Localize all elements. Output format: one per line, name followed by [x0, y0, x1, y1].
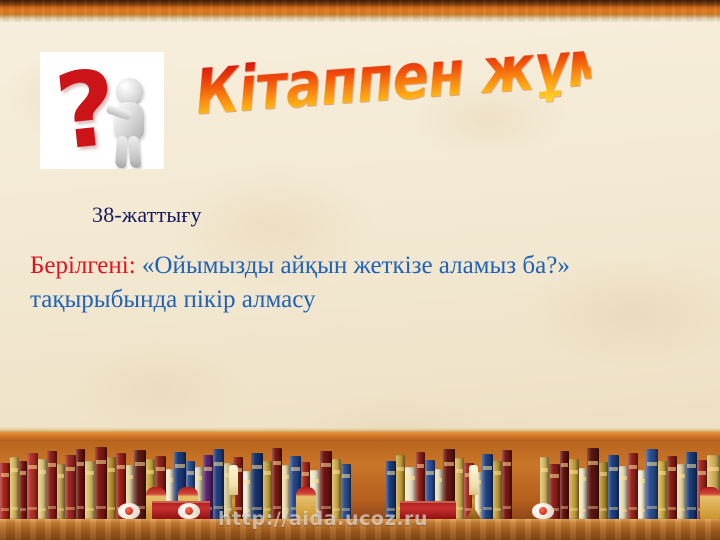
flower-ornament [118, 503, 140, 519]
book-spine [95, 447, 107, 519]
book-spine [569, 459, 579, 519]
book-spine [667, 456, 677, 519]
book-spine [686, 452, 697, 519]
task-lead-label: Берілгені: [30, 252, 136, 279]
book-spine [677, 464, 686, 519]
book-spine [19, 461, 27, 519]
book-spine [493, 461, 502, 519]
figure-head [116, 78, 143, 105]
book-spine [27, 453, 38, 519]
tassel-ornament [700, 487, 720, 519]
figure-left-leg [115, 136, 128, 169]
wood-grain-texture [0, 0, 720, 22]
wooden-top-border [0, 0, 720, 22]
flower-center [125, 507, 133, 515]
task-text: Берілгені: «Ойымызды айқын жеткізе аламы… [30, 249, 690, 317]
candle-icon [229, 465, 238, 495]
book-spine [638, 470, 646, 519]
book-spine [628, 453, 638, 519]
book-spine [65, 455, 76, 519]
figure-right-leg [128, 136, 142, 169]
book-spine [599, 462, 608, 519]
flower-ornament [532, 503, 554, 519]
book-spine [482, 454, 493, 519]
book-spine [579, 468, 587, 519]
book-spine [646, 449, 658, 519]
book-spine [38, 459, 47, 519]
exercise-number: 38-жаттығу [92, 202, 202, 228]
book-spine [560, 451, 569, 519]
book-spine [0, 463, 10, 519]
book-spine [10, 457, 19, 519]
question-mark-thinker-image: ? [40, 52, 164, 169]
slide: ? Кітаппен жұмыс 38-жаттығу Берілгені: «… [0, 0, 720, 540]
flower-ornament [178, 503, 200, 519]
book-spine [76, 449, 85, 519]
book-spine [47, 451, 57, 519]
book-spine [587, 448, 599, 519]
book-spine [85, 461, 95, 519]
slide-title: Кітаппен жұмыс [193, 17, 660, 160]
book-spine [57, 464, 65, 519]
candle-icon [469, 465, 478, 495]
shelf-rail [0, 432, 720, 441]
book-spine [658, 461, 667, 519]
book-spine [502, 450, 512, 519]
book-spine [608, 455, 619, 519]
thinking-figure [102, 78, 158, 166]
flower-center [539, 507, 547, 515]
book-spine [107, 457, 116, 519]
slide-title-text: Кітаппен жұмыс [193, 22, 594, 135]
flower-center [185, 507, 193, 515]
book-spine [455, 458, 464, 519]
book-spine [619, 466, 628, 519]
watermark: http://aida.ucoz.ru [218, 508, 428, 530]
